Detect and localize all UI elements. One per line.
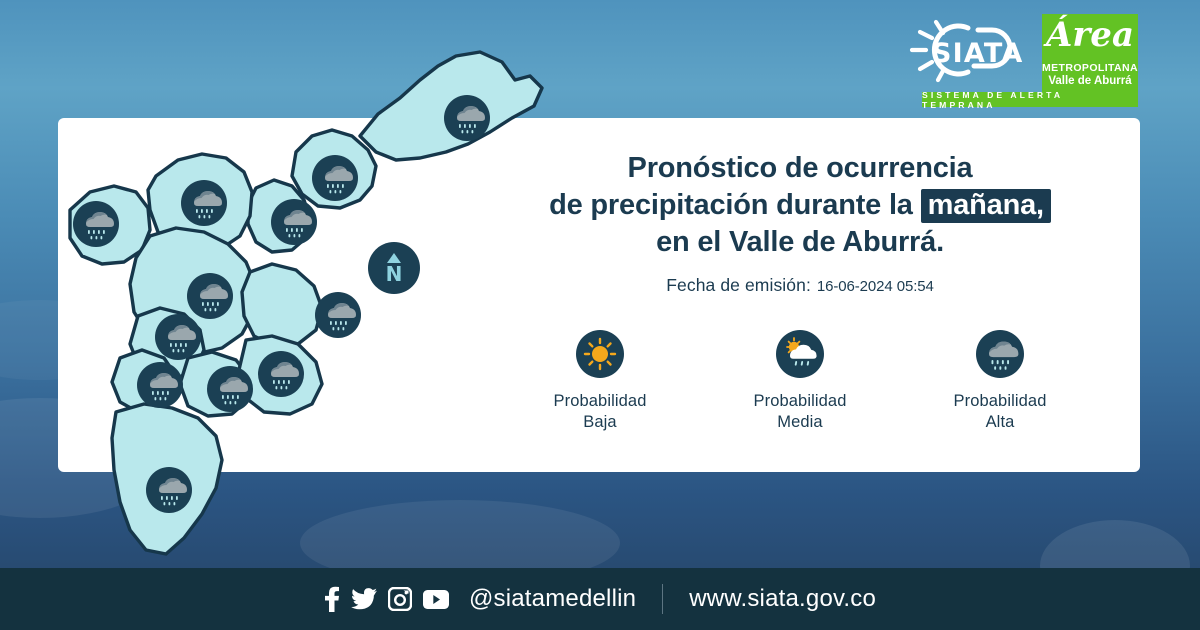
legend-label-baja: Probabilidad Baja — [554, 391, 647, 433]
marker-san-pedro[interactable] — [73, 201, 119, 247]
marker-envigado[interactable] — [315, 292, 361, 338]
social-handle[interactable]: @siatamedellin — [469, 585, 636, 613]
footer-divider — [662, 584, 663, 614]
rain-cloud-icon — [207, 366, 253, 412]
social-icons — [324, 586, 449, 612]
area-script-text: Área — [1042, 18, 1138, 52]
siata-tagline: SISTEMA DE ALERTA TEMPRANA — [922, 92, 1138, 107]
legend-label-media: Probabilidad Media — [754, 391, 847, 433]
siata-wordmark: SIATA — [932, 38, 1024, 69]
title-highlight-manana: mañana, — [921, 189, 1051, 223]
rain-cloud-icon — [315, 292, 361, 338]
legend-item-alta: Probabilidad Alta — [925, 330, 1075, 433]
marker-girardota[interactable] — [312, 155, 358, 201]
title-line-1: Pronóstico de ocurrencia — [470, 150, 1130, 187]
legend-media-line1: Probabilidad — [754, 391, 847, 412]
facebook-icon[interactable] — [324, 586, 340, 612]
rain-cloud-icon — [444, 95, 490, 141]
marker-sur[interactable] — [146, 467, 192, 513]
sun-icon — [576, 330, 624, 378]
emission-date: Fecha de emisión: 16-06-2024 05:54 — [470, 275, 1130, 296]
compass-north-icon: N — [368, 242, 420, 294]
emission-label: Fecha de emisión: — [666, 275, 811, 295]
legend-alta-line1: Probabilidad — [954, 391, 1047, 412]
rain-cloud-icon — [976, 330, 1024, 378]
region-envigado — [242, 264, 322, 346]
rain-cloud-icon — [73, 201, 119, 247]
title-line-2-text: de precipitación durante la — [549, 189, 913, 221]
probability-legend: Probabilidad Baja — [500, 330, 1100, 433]
sun-behind-rain-cloud-icon — [776, 330, 824, 378]
marker-la-estrella[interactable] — [207, 366, 253, 412]
legend-item-media: Probabilidad Media — [725, 330, 875, 433]
footer-bar: @siatamedellin www.siata.gov.co — [0, 568, 1200, 630]
marker-bello[interactable] — [181, 180, 227, 226]
title-line-2: de precipitación durante la mañana, — [470, 187, 1130, 224]
infographic-root: SIATA Área METROPOLITANA Valle de Aburrá… — [0, 0, 1200, 630]
website-url[interactable]: www.siata.gov.co — [689, 585, 876, 613]
rain-cloud-icon — [258, 351, 304, 397]
emission-value: 16-06-2024 05:54 — [817, 278, 934, 295]
logo-group: SIATA Área METROPOLITANA Valle de Aburrá — [906, 14, 1138, 92]
area-metropolitana-logo: Área METROPOLITANA Valle de Aburrá — [1042, 14, 1138, 92]
compass-label: N — [386, 264, 403, 284]
rain-cloud-icon — [271, 199, 317, 245]
area-metropolitana-label: METROPOLITANA — [1042, 63, 1138, 75]
legend-baja-line2: Baja — [554, 412, 647, 433]
rain-cloud-icon — [146, 467, 192, 513]
legend-label-alta: Probabilidad Alta — [954, 391, 1047, 433]
marker-copacabana[interactable] — [271, 199, 317, 245]
rain-cloud-icon — [187, 273, 233, 319]
marker-caldas[interactable] — [258, 351, 304, 397]
legend-item-baja: Probabilidad Baja — [525, 330, 675, 433]
page-title: Pronóstico de ocurrencia de precipitació… — [470, 150, 1130, 260]
forecast-text-panel: Pronóstico de ocurrencia de precipitació… — [470, 150, 1130, 296]
rain-cloud-icon — [181, 180, 227, 226]
marker-barbosa[interactable] — [444, 95, 490, 141]
siata-logo: SIATA — [906, 14, 1034, 90]
legend-baja-line1: Probabilidad — [554, 391, 647, 412]
title-line-3: en el Valle de Aburrá. — [470, 224, 1130, 261]
valle-de-aburra-map: N — [60, 40, 560, 580]
twitter-icon[interactable] — [351, 588, 377, 610]
legend-alta-line2: Alta — [954, 412, 1047, 433]
rain-cloud-icon — [137, 362, 183, 408]
legend-media-line2: Media — [754, 412, 847, 433]
marker-itagui[interactable] — [155, 314, 201, 360]
marker-sabaneta[interactable] — [137, 362, 183, 408]
area-valle-label: Valle de Aburrá — [1048, 75, 1131, 88]
youtube-icon[interactable] — [423, 590, 449, 609]
compass-arrow — [387, 253, 401, 263]
marker-medellin[interactable] — [187, 273, 233, 319]
rain-cloud-icon — [312, 155, 358, 201]
instagram-icon[interactable] — [388, 587, 412, 611]
rain-cloud-icon — [155, 314, 201, 360]
